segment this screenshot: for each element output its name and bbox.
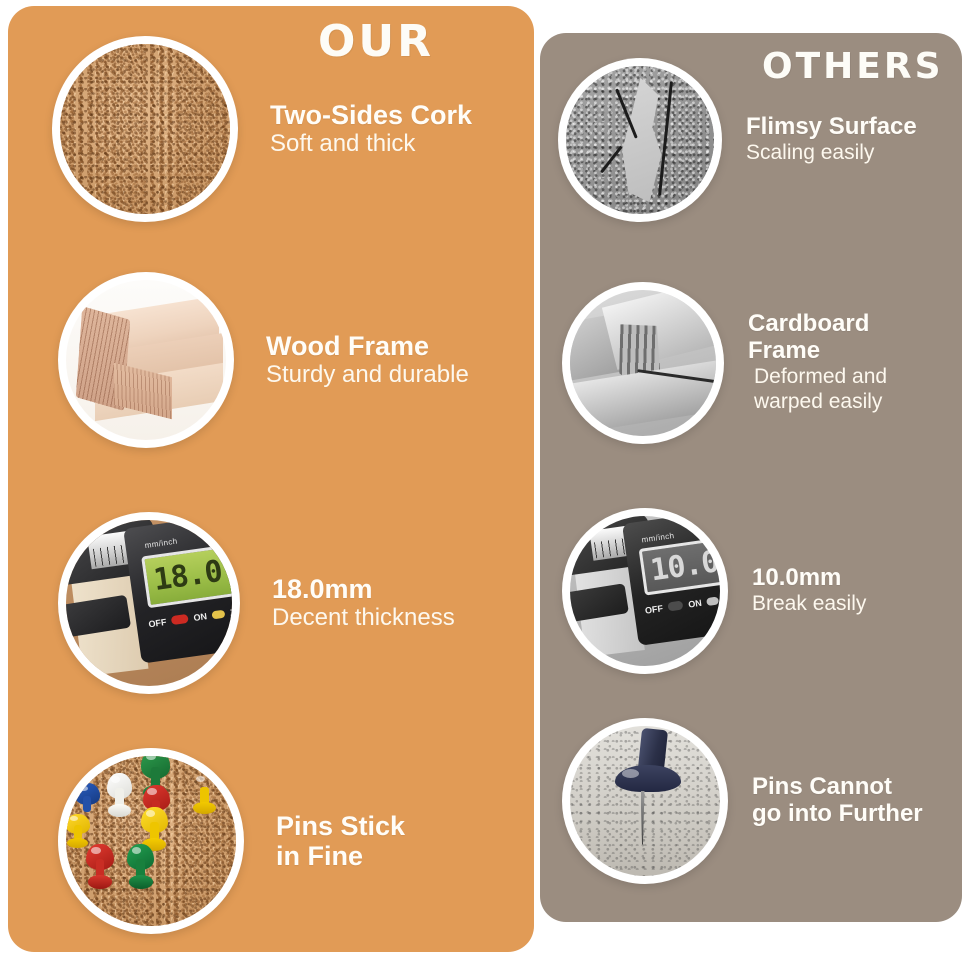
pin-white bbox=[107, 773, 133, 817]
others-row-frame-title-line2: Frame bbox=[748, 338, 887, 365]
caliper-reading: 18.0 bbox=[146, 554, 224, 599]
caliper-off-label: OFF bbox=[148, 617, 167, 629]
pin-yellow-left bbox=[66, 814, 90, 848]
pin-red-left bbox=[86, 844, 113, 888]
cork-texture-photo bbox=[52, 36, 238, 222]
caliper-display: 18.0 bbox=[142, 544, 232, 608]
push-pins-in-cork-photo bbox=[58, 748, 244, 934]
others-row-pins: Pins Cannot go into Further bbox=[562, 718, 923, 884]
caliper-gray-on-label: ON bbox=[688, 597, 703, 609]
pin-green-mid bbox=[127, 844, 154, 888]
caliper-zero-label: ZER bbox=[230, 605, 232, 617]
others-row-pins-title-line2: go into Further bbox=[752, 801, 923, 828]
others-row-frame-subtitle-line2: warped easily bbox=[754, 390, 887, 415]
caliper-art: mm/inch 18.0 OFF ON ZER bbox=[66, 520, 232, 686]
pin-yellow-right bbox=[192, 773, 218, 814]
caliper-gray-reading: 10.0 bbox=[642, 544, 720, 589]
cork-texture-art bbox=[60, 44, 230, 214]
others-row-frame: Cardboard Frame Deformed and warped easi… bbox=[562, 282, 887, 444]
caliper-gray-art: mm/inch 10.0 OFF ON ZE bbox=[570, 516, 720, 666]
others-row-surface-text: Flimsy Surface Scaling easily bbox=[746, 114, 917, 166]
our-row-cork-subtitle: Soft and thick bbox=[270, 130, 472, 158]
our-row-wood-text: Wood Frame Sturdy and durable bbox=[266, 331, 469, 390]
others-row-surface-title: Flimsy Surface bbox=[746, 114, 917, 141]
caliper-gray-off-label: OFF bbox=[644, 603, 663, 615]
torn-cardboard-frame-photo bbox=[562, 282, 724, 444]
our-row-thickness-text: 18.0mm Decent thickness bbox=[272, 574, 455, 633]
torn-cardboard-art bbox=[570, 290, 716, 436]
caliper-power-button bbox=[171, 614, 190, 625]
flaking-surface-photo bbox=[558, 58, 722, 222]
caliper-measuring-cardboard-photo: mm/inch 10.0 OFF ON ZE bbox=[562, 508, 728, 674]
flaking-surface-art bbox=[566, 66, 714, 214]
stuck-pin-art bbox=[570, 726, 720, 876]
caliper-on-label: ON bbox=[193, 611, 208, 623]
our-row-pins: Pins Stick in Fine bbox=[58, 748, 405, 934]
caliper-gray-display: 10.0 bbox=[639, 538, 720, 596]
others-row-frame-text: Cardboard Frame Deformed and warped easi… bbox=[748, 311, 887, 414]
wood-frame-art bbox=[66, 280, 226, 440]
our-row-thickness-title: 18.0mm bbox=[272, 574, 455, 604]
caliper-gray-zero-button bbox=[706, 596, 719, 606]
others-row-thickness: mm/inch 10.0 OFF ON ZE bbox=[562, 508, 866, 674]
push-pins-art bbox=[66, 756, 236, 926]
others-row-pins-title: Pins Cannot bbox=[752, 774, 923, 801]
our-row-cork: Two-Sides Cork Soft and thick bbox=[52, 36, 472, 222]
others-row-surface: Flimsy Surface Scaling easily bbox=[558, 58, 917, 222]
our-row-thickness: mm/inch 18.0 OFF ON ZER bbox=[58, 512, 455, 694]
our-row-thickness-subtitle: Decent thickness bbox=[272, 604, 455, 632]
our-row-wood-title: Wood Frame bbox=[266, 331, 469, 361]
our-row-pins-title: Pins Stick bbox=[276, 811, 405, 841]
others-row-pins-text: Pins Cannot go into Further bbox=[752, 774, 923, 828]
others-row-thickness-text: 10.0mm Break easily bbox=[752, 565, 866, 617]
others-row-thickness-subtitle: Break easily bbox=[752, 592, 866, 617]
others-row-thickness-title: 10.0mm bbox=[752, 565, 866, 592]
caliper-unit-label: mm/inch bbox=[145, 537, 179, 551]
caliper-gray-power-button bbox=[667, 600, 684, 611]
comparison-infographic: OUR Two-Sides Cork Soft and thick Wood F… bbox=[0, 0, 975, 959]
our-row-pins-text: Pins Stick in Fine bbox=[276, 811, 405, 871]
caliper-gray-unit-label: mm/inch bbox=[641, 530, 675, 544]
caliper-measuring-cork-photo: mm/inch 18.0 OFF ON ZER bbox=[58, 512, 240, 694]
others-row-surface-subtitle: Scaling easily bbox=[746, 141, 917, 166]
pin-not-penetrating-photo bbox=[562, 718, 728, 884]
others-row-frame-title: Cardboard bbox=[748, 311, 887, 338]
our-row-cork-title: Two-Sides Cork bbox=[270, 100, 472, 130]
our-row-cork-text: Two-Sides Cork Soft and thick bbox=[270, 100, 472, 159]
others-row-frame-subtitle: Deformed and bbox=[754, 365, 887, 390]
our-row-wood-subtitle: Sturdy and durable bbox=[266, 361, 469, 389]
our-row-wood: Wood Frame Sturdy and durable bbox=[58, 272, 469, 448]
caliper-zero-button bbox=[212, 610, 226, 620]
wood-frame-photo bbox=[58, 272, 234, 448]
our-row-pins-title-line2: in Fine bbox=[276, 841, 405, 871]
